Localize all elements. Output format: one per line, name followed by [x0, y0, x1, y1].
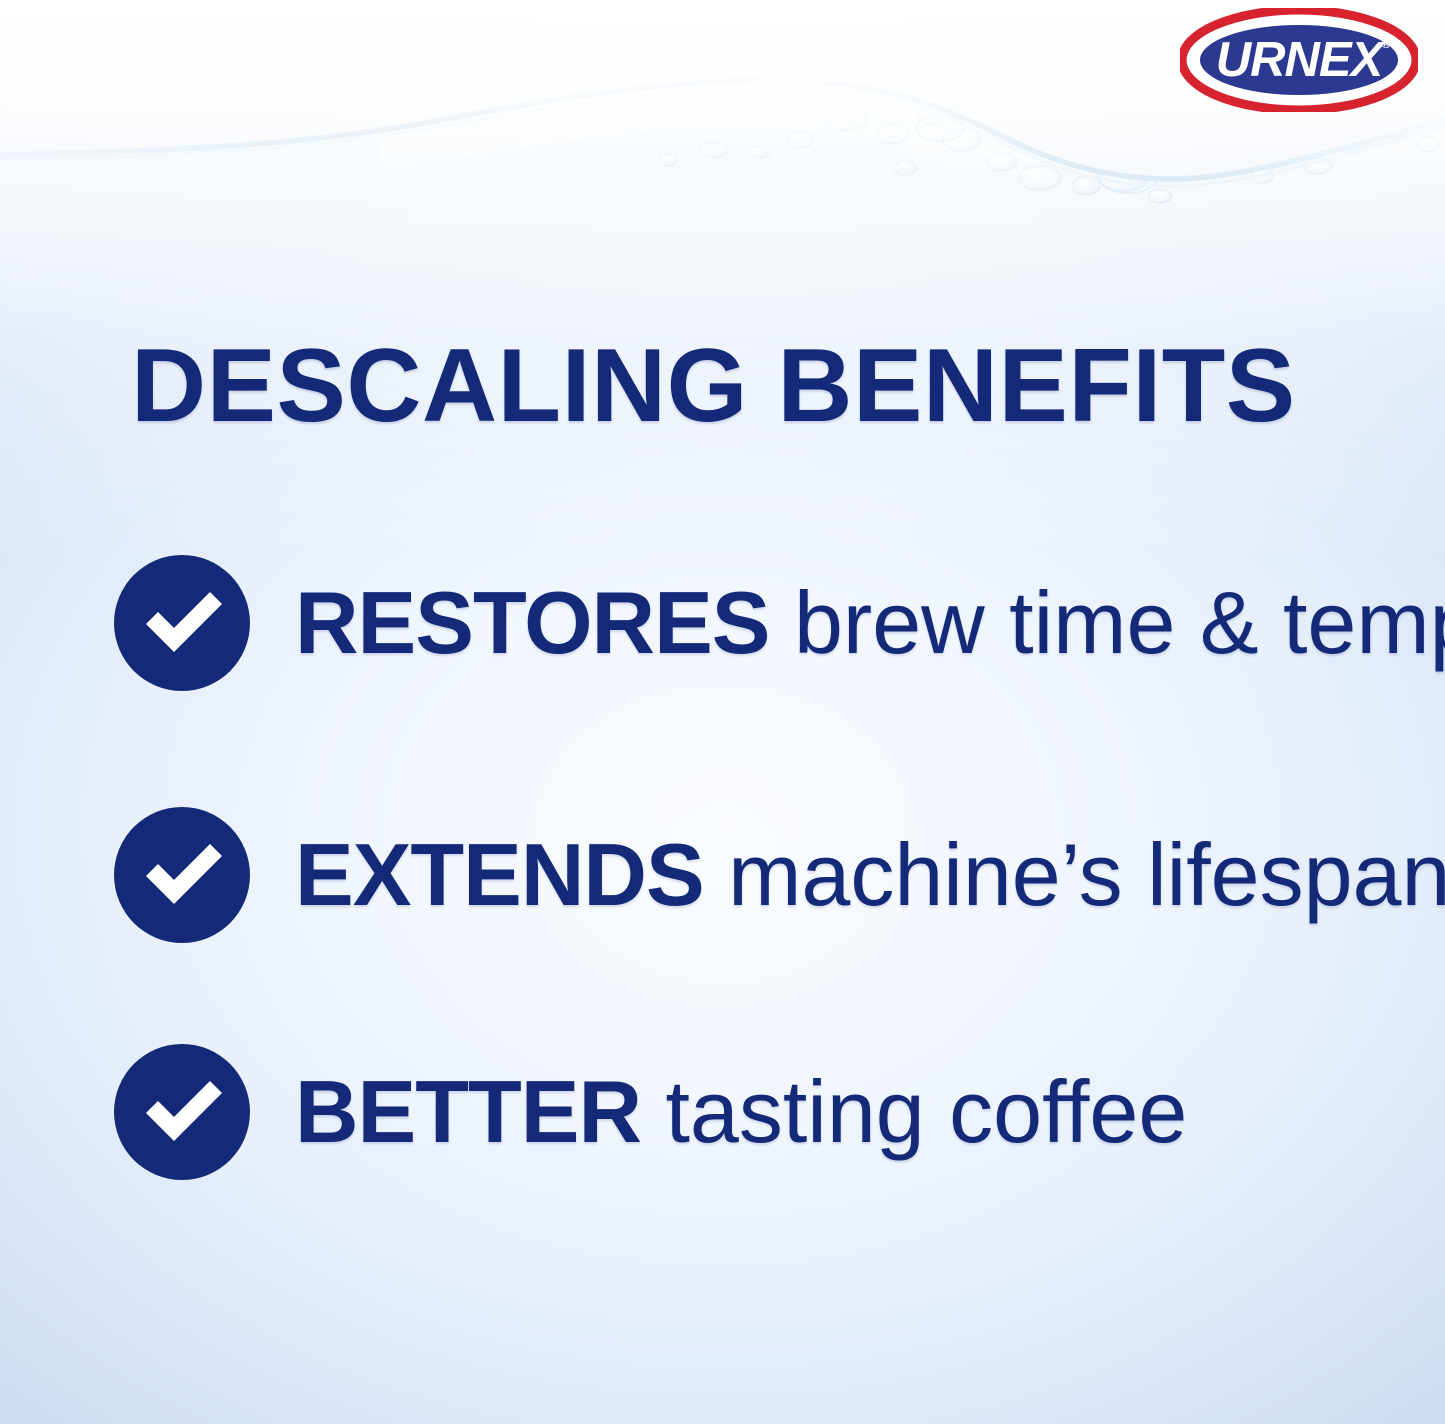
check-circle-icon: [113, 1043, 251, 1181]
benefit-label: BETTER tasting coffee: [295, 1064, 1187, 1160]
benefit-strong-text: BETTER: [295, 1062, 641, 1161]
benefit-label: EXTENDS machine’s lifespan: [295, 827, 1445, 923]
benefit-light-text: brew time & temp: [770, 573, 1445, 672]
page-title: DESCALING BENEFITS: [131, 334, 1296, 438]
check-circle-icon: [113, 554, 251, 692]
benefit-label: RESTORES brew time & temp: [295, 575, 1445, 671]
benefit-item-better: BETTER tasting coffee: [113, 1042, 1187, 1182]
logo-registered-mark: ®: [1381, 36, 1391, 51]
benefit-item-restores: RESTORES brew time & temp: [113, 553, 1445, 693]
product-benefits-graphic: URNEX ® DESCALING BENEFITS RESTORES brew…: [0, 0, 1445, 1424]
benefit-light-text: machine’s lifespan: [704, 825, 1445, 924]
benefit-light-text: tasting coffee: [641, 1062, 1187, 1161]
logo-wordmark: URNEX: [1216, 33, 1387, 87]
check-circle-icon: [113, 806, 251, 944]
benefit-strong-text: RESTORES: [295, 573, 770, 672]
urnex-logo: URNEX ®: [1180, 8, 1418, 112]
benefit-item-extends: EXTENDS machine’s lifespan: [113, 805, 1445, 945]
benefit-strong-text: EXTENDS: [295, 825, 704, 924]
